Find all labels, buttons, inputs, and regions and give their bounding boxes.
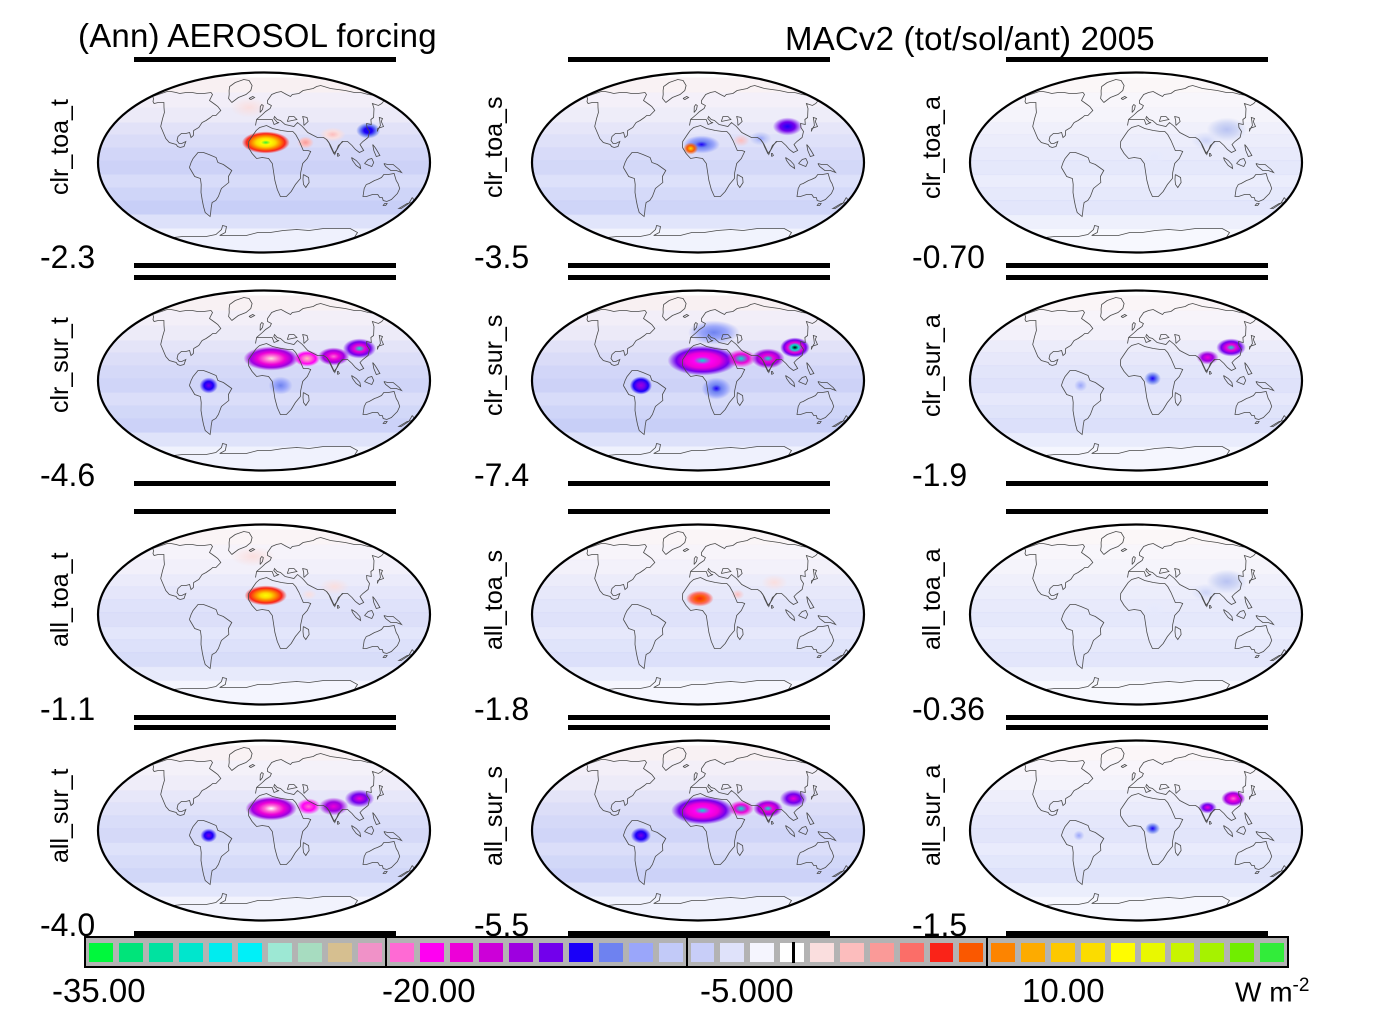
map-panel-clr_toa_s: clr_toa_s-3.5 (480, 55, 880, 270)
map-wrap-clr_toa_a (960, 55, 1312, 270)
map-wrap-clr_sur_a (960, 273, 1312, 488)
colorbar-swatch (1141, 943, 1165, 962)
map-panel-all_sur_t: all_sur_t-4.0 (46, 723, 446, 938)
colorbar-unit-main: W m (1235, 976, 1293, 1007)
colorbar-swatch (450, 943, 474, 962)
panel-label-clr_toa_s: clr_toa_s (480, 55, 509, 240)
panel-value-clr_toa_t: -2.3 (40, 239, 95, 276)
colorbar-swatch (1021, 943, 1045, 962)
map-cap-top (134, 57, 396, 62)
colorbar-swatch (179, 943, 203, 962)
map-panel-clr_sur_t: clr_sur_t-4.6 (46, 273, 446, 488)
colorbar-swatch (720, 943, 744, 962)
panel-label-clr_sur_t: clr_sur_t (46, 273, 75, 458)
globe-map (960, 723, 1312, 938)
colorbar-swatch (629, 943, 653, 962)
colorbar-swatch (420, 943, 444, 962)
globe-map (88, 507, 440, 722)
map-cap-top (134, 509, 396, 514)
map-panel-clr_toa_t: clr_toa_t-2.3 (46, 55, 446, 270)
colorbar-swatch (238, 943, 262, 962)
globe-map (960, 273, 1312, 488)
map-cap-top (568, 725, 830, 730)
colorbar-swatch (599, 943, 623, 962)
colorbar-swatch (119, 943, 143, 962)
colorbar-segment-1 (86, 938, 385, 966)
colorbar-segment-2 (385, 938, 686, 966)
colorbar-swatch (149, 943, 173, 962)
panel-label-all_toa_s: all_toa_s (480, 507, 509, 692)
panel-label-all_sur_s: all_sur_s (480, 723, 509, 908)
map-wrap-clr_toa_s (522, 55, 874, 270)
panel-label-clr_toa_t: clr_toa_t (46, 55, 75, 240)
colorbar-tick-label: -35.00 (52, 972, 146, 1010)
colorbar-swatch (810, 943, 834, 962)
map-wrap-clr_sur_s (522, 273, 874, 488)
map-wrap-all_sur_t (88, 723, 440, 938)
map-panel-clr_sur_s: clr_sur_s-7.4 (480, 273, 880, 488)
colorbar-swatch (1111, 943, 1135, 962)
map-cap-bottom (1006, 263, 1268, 268)
map-panel-clr_sur_a: clr_sur_a-1.9 (918, 273, 1318, 488)
map-panel-all_toa_a: all_toa_a-0.36 (918, 507, 1318, 722)
colorbar-swatch (1081, 943, 1105, 962)
panel-value-clr_sur_a: -1.9 (912, 457, 967, 494)
colorbar-swatch (358, 943, 382, 962)
colorbar-swatch (900, 943, 924, 962)
map-wrap-all_sur_a (960, 723, 1312, 938)
panel-label-all_sur_a: all_sur_a (918, 723, 947, 908)
map-cap-top (1006, 725, 1268, 730)
figure-title-left: (Ann) AEROSOL forcing (78, 17, 437, 55)
colorbar-swatch (991, 943, 1015, 962)
globe-map (960, 507, 1312, 722)
map-wrap-all_toa_t (88, 507, 440, 722)
colorbar-swatch (390, 943, 414, 962)
map-wrap-all_toa_a (960, 507, 1312, 722)
map-cap-top (568, 275, 830, 280)
map-wrap-clr_toa_t (88, 55, 440, 270)
colorbar-swatch (750, 943, 774, 962)
map-cap-bottom (568, 715, 830, 720)
globe-map (522, 723, 874, 938)
colorbar-swatch (1200, 943, 1224, 962)
panel-label-all_toa_t: all_toa_t (46, 507, 75, 692)
map-cap-top (1006, 509, 1268, 514)
panel-label-clr_toa_a: clr_toa_a (918, 55, 947, 240)
map-wrap-clr_sur_t (88, 273, 440, 488)
map-cap-bottom (134, 481, 396, 486)
colorbar-swatch (509, 943, 533, 962)
colorbar-swatch (1260, 943, 1284, 962)
globe-map (522, 55, 874, 270)
colorbar-tick-label: -20.00 (382, 972, 476, 1010)
map-wrap-all_toa_s (522, 507, 874, 722)
colorbar-swatch (870, 943, 894, 962)
panel-label-clr_sur_a: clr_sur_a (918, 273, 947, 458)
panel-label-clr_sur_s: clr_sur_s (480, 273, 509, 458)
colorbar-swatch (1051, 943, 1075, 962)
map-cap-bottom (1006, 715, 1268, 720)
colorbar-swatch (659, 943, 683, 962)
map-cap-top (1006, 275, 1268, 280)
panel-label-all_sur_t: all_sur_t (46, 723, 75, 908)
globe-map (960, 55, 1312, 270)
map-cap-top (568, 509, 830, 514)
map-panel-all_sur_s: all_sur_s-5.5 (480, 723, 880, 938)
globe-map (88, 55, 440, 270)
colorbar-swatch (691, 943, 715, 962)
panel-value-clr_sur_s: -7.4 (474, 457, 529, 494)
colorbar-swatch (1171, 943, 1195, 962)
colorbar-swatch (89, 943, 113, 962)
colorbar-swatch (539, 943, 563, 962)
colorbar-swatch (209, 943, 233, 962)
map-wrap-all_sur_s (522, 723, 874, 938)
colorbar-zero-tick (792, 942, 795, 963)
colorbar-unit-exponent: -2 (1293, 975, 1310, 996)
map-cap-top (1006, 57, 1268, 62)
map-cap-top (134, 725, 396, 730)
colorbar-swatch (569, 943, 593, 962)
colorbar-swatch (959, 943, 983, 962)
colorbar-swatch (479, 943, 503, 962)
colorbar[interactable] (84, 936, 1289, 968)
colorbar-swatch (1230, 943, 1254, 962)
map-cap-bottom (134, 715, 396, 720)
map-cap-top (134, 275, 396, 280)
colorbar-swatch (268, 943, 292, 962)
figure-title-right: MACv2 (tot/sol/ant) 2005 (785, 20, 1155, 58)
panel-value-clr_toa_s: -3.5 (474, 239, 529, 276)
map-cap-bottom (568, 263, 830, 268)
colorbar-swatch (328, 943, 352, 962)
colorbar-swatch (298, 943, 322, 962)
colorbar-segment-3 (686, 938, 987, 966)
globe-map (88, 723, 440, 938)
colorbar-tick-label: 10.00 (1022, 972, 1105, 1010)
map-cap-bottom (134, 263, 396, 268)
map-panel-all_sur_a: all_sur_a-1.5 (918, 723, 1318, 938)
colorbar-segment-4 (986, 938, 1287, 966)
colorbar-unit-label: W m-2 (1235, 975, 1309, 1008)
map-panel-all_toa_s: all_toa_s-1.8 (480, 507, 880, 722)
map-panel-all_toa_t: all_toa_t-1.1 (46, 507, 446, 722)
globe-map (522, 273, 874, 488)
panel-label-all_toa_a: all_toa_a (918, 507, 947, 692)
panel-grid: clr_toa_t-2.3clr_toa_s-3.5clr_toa_a-0.70… (0, 55, 1390, 925)
map-cap-bottom (1006, 481, 1268, 486)
colorbar-swatch (930, 943, 954, 962)
globe-map (88, 273, 440, 488)
map-cap-top (568, 57, 830, 62)
colorbar-tick-label: -5.000 (700, 972, 794, 1010)
map-cap-bottom (568, 481, 830, 486)
panel-value-clr_sur_t: -4.6 (40, 457, 95, 494)
colorbar-swatch (840, 943, 864, 962)
map-panel-clr_toa_a: clr_toa_a-0.70 (918, 55, 1318, 270)
globe-map (522, 507, 874, 722)
